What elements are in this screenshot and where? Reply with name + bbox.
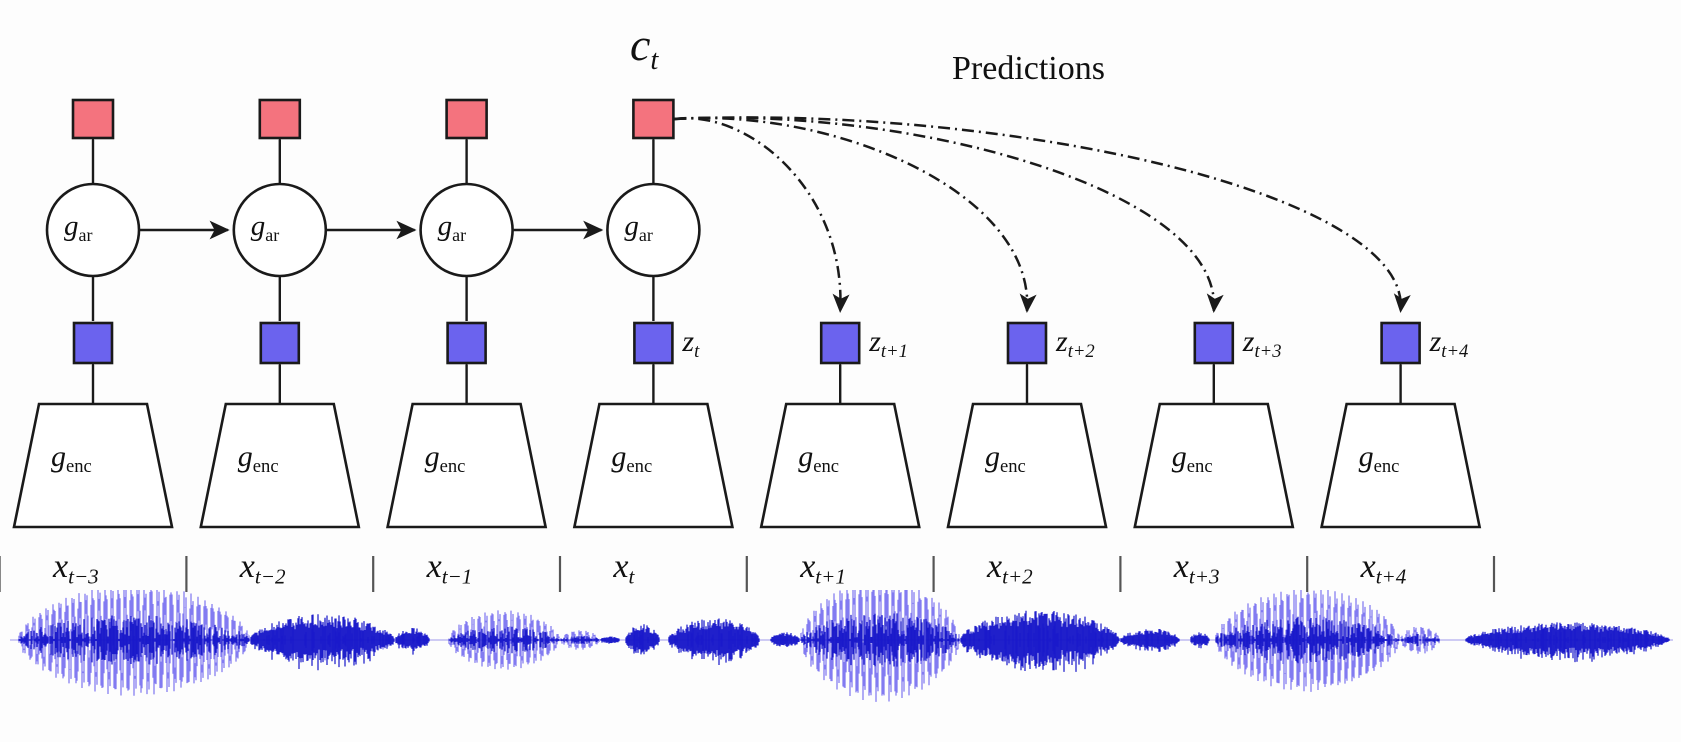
latent-label-sub: t+4 — [1441, 341, 1468, 362]
predictions-label: Predictions — [952, 50, 1105, 88]
encoder-trapezoid — [201, 404, 359, 527]
encoder-label-sub: enc — [253, 456, 279, 477]
autoregressive-node — [47, 184, 139, 276]
latent-label-base: z — [869, 325, 881, 358]
latent-square — [261, 323, 299, 363]
input-label-sub: t−3 — [68, 565, 99, 589]
encoder-label-sub: enc — [813, 456, 839, 477]
encoder-label-base: g — [238, 440, 253, 473]
encoder-label: genc — [1359, 440, 1400, 478]
latent-label-base: z — [1430, 325, 1442, 358]
encoder-label-sub: enc — [1374, 456, 1400, 477]
input-label-sub: t — [628, 565, 634, 589]
ar-label-sub: ar — [265, 225, 279, 245]
input-label: xt+4 — [1361, 548, 1407, 590]
latent-square — [821, 323, 859, 363]
encoder-label: genc — [238, 440, 279, 478]
latent-label-sub: t — [694, 341, 699, 362]
ar-label: gar — [251, 210, 279, 246]
encoder-label-base: g — [425, 440, 440, 473]
latent-square — [448, 323, 486, 363]
encoder-label-base: g — [51, 440, 66, 473]
encoder-label-sub: enc — [66, 456, 92, 477]
prediction-arc — [674, 118, 1027, 311]
encoder-label-base: g — [985, 440, 1000, 473]
input-label-base: x — [613, 548, 628, 585]
encoder-label: genc — [798, 440, 839, 478]
encoder-label: genc — [1172, 440, 1213, 478]
latent-label: zt+3 — [1243, 325, 1282, 363]
encoder-trapezoid — [1135, 404, 1293, 527]
encoder-label-base: g — [798, 440, 813, 473]
encoder-label: genc — [425, 440, 466, 478]
latent-square — [1195, 323, 1233, 363]
encoder-label-base: g — [1172, 440, 1187, 473]
latent-square — [1382, 323, 1420, 363]
encoder-label-base: g — [1359, 440, 1374, 473]
latent-square — [1008, 323, 1046, 363]
ar-label: gar — [64, 210, 92, 246]
autoregressive-node — [421, 184, 513, 276]
encoder-label: genc — [51, 440, 92, 478]
ct-base: c — [630, 19, 650, 70]
input-label: xt+2 — [987, 548, 1033, 590]
latent-label: zt+2 — [1056, 325, 1095, 363]
encoder-trapezoid — [14, 404, 172, 527]
encoder-trapezoid — [761, 404, 919, 527]
latent-label-base: z — [1056, 325, 1068, 358]
latent-label-sub: t+1 — [881, 341, 908, 362]
context-square — [260, 100, 300, 138]
context-square — [73, 100, 113, 138]
autoregressive-node — [234, 184, 326, 276]
latent-label-base: z — [682, 325, 694, 358]
input-label-base: x — [1174, 548, 1189, 585]
latent-square — [74, 323, 112, 363]
ar-label-base: g — [251, 210, 266, 242]
latent-label: zt — [682, 325, 699, 363]
context-square — [447, 100, 487, 138]
ct-sub: t — [650, 45, 658, 76]
ar-label-base: g — [438, 210, 453, 242]
input-label-base: x — [53, 548, 68, 585]
input-label: xt−1 — [427, 548, 473, 590]
ar-label-sub: ar — [639, 225, 653, 245]
encoder-label-sub: enc — [1000, 456, 1026, 477]
input-label: xt+1 — [800, 548, 846, 590]
encoder-label: genc — [985, 440, 1026, 478]
ar-label-sub: ar — [452, 225, 466, 245]
latent-label: zt+4 — [1430, 325, 1469, 363]
input-label-base: x — [1361, 548, 1376, 585]
ar-label: gar — [624, 210, 652, 246]
encoder-label: genc — [611, 440, 652, 478]
encoder-label-sub: enc — [626, 456, 652, 477]
latent-label-sub: t+2 — [1068, 341, 1095, 362]
latent-square — [634, 323, 672, 363]
encoder-label-sub: enc — [1187, 456, 1213, 477]
cpc-architecture-diagram — [0, 0, 1681, 742]
latent-label-base: z — [1243, 325, 1255, 358]
latent-label-sub: t+3 — [1254, 341, 1281, 362]
input-label-base: x — [987, 548, 1002, 585]
context-square — [633, 100, 673, 138]
input-label-sub: t+4 — [1376, 565, 1407, 589]
ar-label-base: g — [64, 210, 79, 242]
encoder-label-base: g — [611, 440, 626, 473]
ar-label-sub: ar — [79, 225, 93, 245]
autoregressive-node — [607, 184, 699, 276]
prediction-arc — [674, 118, 1214, 311]
input-label-sub: t−1 — [442, 565, 473, 589]
prediction-arc — [674, 118, 840, 311]
input-label-base: x — [240, 548, 255, 585]
input-label-base: x — [800, 548, 815, 585]
input-label: xt — [613, 548, 634, 590]
latent-label: zt+1 — [869, 325, 908, 363]
input-label-base: x — [427, 548, 442, 585]
ar-label-base: g — [624, 210, 639, 242]
figure-canvas: ct Predictions gencgarxt−3gencgarxt−2gen… — [0, 0, 1681, 742]
input-label: xt−2 — [240, 548, 286, 590]
encoder-trapezoid — [948, 404, 1106, 527]
context-vector-label: ct — [630, 18, 658, 77]
input-label-sub: t+2 — [1002, 565, 1033, 589]
encoder-trapezoid — [388, 404, 546, 527]
encoder-trapezoid — [1322, 404, 1480, 527]
prediction-arc — [674, 117, 1400, 311]
input-label: xt−3 — [53, 548, 99, 590]
input-label: xt+3 — [1174, 548, 1220, 590]
encoder-label-sub: enc — [440, 456, 466, 477]
input-label-sub: t−2 — [255, 565, 286, 589]
encoder-trapezoid — [574, 404, 732, 527]
ar-label: gar — [438, 210, 466, 246]
input-label-sub: t+1 — [815, 565, 846, 589]
input-label-sub: t+3 — [1189, 565, 1220, 589]
